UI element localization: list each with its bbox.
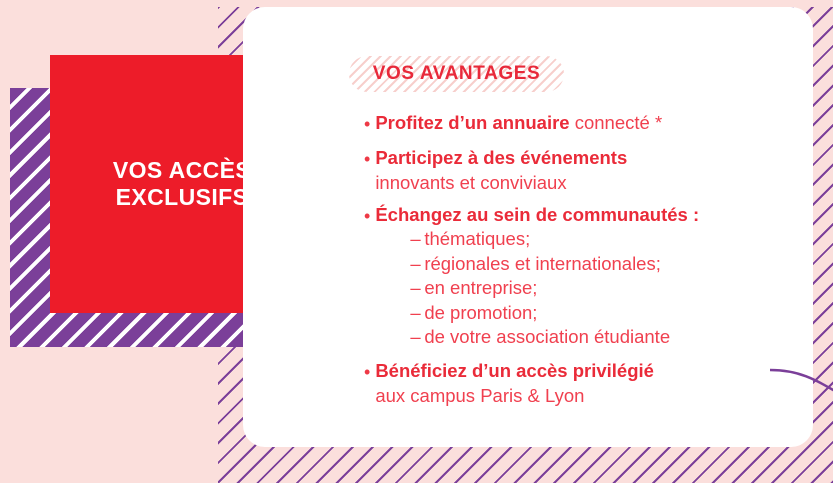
sub-list-item: –thématiques; [410,227,804,252]
list-item-line: Échangez au sein de communautés : [375,202,804,227]
dash-icon: – [410,301,424,326]
dash-icon: – [410,325,424,350]
vos-avantages-badge: VOS AVANTAGES [349,56,564,92]
list-item-rest-text: connecté * [570,112,663,133]
list-item-strong-text: Participez à des événements [375,147,627,168]
sub-list-item-label: de promotion; [424,302,537,323]
sub-list-item: –régionales et internationales; [410,252,804,277]
sub-list-item-label: thématiques; [424,228,530,249]
sub-list-item: –de promotion; [410,301,804,326]
sub-list: –thématiques; –régionales et internation… [375,227,804,350]
list-item: • Bénéficiez d’un accès privilégié aux c… [364,358,804,408]
dash-icon: – [410,276,424,301]
list-item-second-line: aux campus Paris & Lyon [375,383,804,408]
list-item-strong-text: Échangez au sein de communautés : [375,204,699,225]
list-item-body: Participez à des événements innovants et… [375,145,804,195]
list-item: • Participez à des événements innovants … [364,145,804,195]
dash-icon: – [410,227,424,252]
list-item-body: Bénéficiez d’un accès privilégié aux cam… [375,358,804,408]
sub-list-item: –de votre association étudiante [410,325,804,350]
list-item-body: Échangez au sein de communautés : –théma… [375,202,804,350]
bullet-dot-icon: • [364,202,370,230]
list-item-line: Profitez d’un annuaire connecté * [375,110,804,135]
vos-avantages-badge-label: VOS AVANTAGES [373,63,541,85]
list-item-strong-text: Bénéficiez d’un accès privilégié [375,360,654,381]
slide-canvas: VOS ACCÈS EXCLUSIFS VOS AVANTAGES • Prof… [0,0,833,483]
vos-acces-exclusifs-title: VOS ACCÈS EXCLUSIFS [113,157,251,210]
bullet-dot-icon: • [364,358,370,386]
sub-list-item-label: de votre association étudiante [424,326,670,347]
bullet-dot-icon: • [364,145,370,173]
sub-list-item-label: en entreprise; [424,277,537,298]
list-item-body: Profitez d’un annuaire connecté * [375,110,804,135]
list-item-second-line: innovants et conviviaux [375,170,804,195]
list-item-strong-text: Profitez d’un annuaire [375,112,569,133]
list-item: • Échangez au sein de communautés : –thé… [364,202,804,350]
list-item-line: Participez à des événements [375,145,804,170]
list-item: • Profitez d’un annuaire connecté * [364,110,804,138]
bullet-dot-icon: • [364,110,370,138]
list-item-line: Bénéficiez d’un accès privilégié [375,358,804,383]
dash-icon: – [410,252,424,277]
sub-list-item-label: régionales et internationales; [424,253,661,274]
advantages-bullet-list: • Profitez d’un annuaire connecté * • Pa… [364,110,804,415]
sub-list-item: –en entreprise; [410,276,804,301]
